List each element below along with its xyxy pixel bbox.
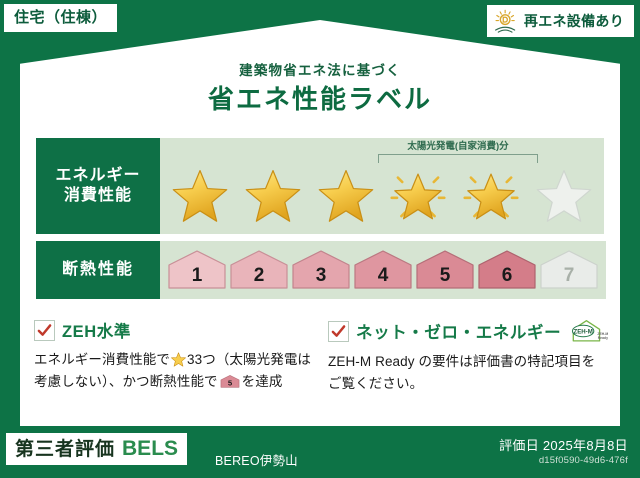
- svg-text:4: 4: [378, 265, 389, 286]
- label-title: 省エネ性能ラベル: [0, 79, 640, 116]
- svg-text:1: 1: [192, 265, 203, 286]
- energy-star-2: [242, 160, 304, 230]
- bels-logo-text: BELS: [122, 438, 178, 459]
- star-filled-icon: [172, 168, 228, 224]
- insulation-performance-row: 断熱性能 1 2 3 4: [36, 241, 604, 299]
- building-type-tag: 住宅（住棟）: [4, 4, 117, 32]
- svg-text:2: 2: [254, 265, 265, 286]
- zeh-m-logo-icon: ZEH-M ZEH-M Ready: [570, 318, 608, 344]
- insulation-grade-2: 2: [228, 249, 290, 291]
- svg-text:7: 7: [564, 265, 575, 286]
- metric-rows: エネルギー 消費性能 太陽光発電(自家消費)分: [36, 138, 604, 306]
- energy-star-5: [460, 160, 522, 230]
- insulation-grade-5: 5: [414, 249, 476, 291]
- insulation-grades-area: 1 2 3 4 5: [160, 241, 606, 299]
- star-filled-icon: [318, 168, 374, 224]
- svg-text:Ready: Ready: [598, 336, 608, 340]
- insulation-grade-7: 7: [538, 249, 600, 291]
- star-empty-icon: [536, 168, 592, 224]
- zeh-desc-part3: を達成: [242, 374, 283, 389]
- zeh-standard-block: ZEH水準 エネルギー消費性能で33つ（太陽光発電は考慮しない）、かつ断熱性能で…: [34, 318, 314, 395]
- net-zero-energy-block: ネット・ゼロ・エネルギー ZEH-M ZEH-M Ready ZEH-M Rea…: [328, 318, 608, 395]
- third-party-eval-label: 第三者評価: [15, 440, 115, 459]
- insulation-grade-1: 1: [166, 249, 228, 291]
- zeh-title: ZEH水準: [62, 318, 131, 342]
- energy-star-3: [315, 160, 377, 230]
- label-subtitle: 建築物省エネ法に基づく: [0, 59, 640, 79]
- solar-annotation-label: 太陽光発電(自家消費)分: [378, 142, 538, 152]
- energy-stars-area: 太陽光発電(自家消費)分: [160, 138, 604, 234]
- evaluation-date: 評価日 2025年8月8日: [499, 435, 628, 454]
- info-columns: ZEH水準 エネルギー消費性能で33つ（太陽光発電は考慮しない）、かつ断熱性能で…: [34, 318, 608, 395]
- renewable-energy-badge: 再エネ設備あり: [487, 5, 634, 37]
- insulation-grade-6: 6: [476, 249, 538, 291]
- svg-text:ZEH-M: ZEH-M: [574, 328, 593, 335]
- energy-star-4: [387, 160, 449, 230]
- solar-sun-icon: [493, 9, 519, 33]
- energy-performance-label: 住宅（住棟） 再エネ設備あり 建築物省エネ法に基づく 省エネ性能ラベル: [0, 0, 640, 478]
- star-filled-icon: [245, 168, 301, 224]
- bels-plate: 第三者評価 BELS: [6, 433, 187, 465]
- zeh-desc-part1: エネルギー消費性能で: [34, 352, 170, 367]
- energy-label-line1: エネルギー: [55, 166, 140, 186]
- nze-title: ネット・ゼロ・エネルギー: [356, 319, 561, 343]
- zeh-checkbox: [34, 320, 55, 341]
- energy-performance-row: エネルギー 消費性能 太陽光発電(自家消費)分: [36, 138, 604, 234]
- footer-bar: 第三者評価 BELS BEREO伊勢山 評価日 2025年8月8日 d15f05…: [0, 426, 640, 478]
- svg-text:5: 5: [227, 378, 232, 387]
- inline-star-icon: [171, 352, 186, 367]
- nze-description: ZEH-M Ready の要件は評価書の特記項目をご覧ください。: [328, 351, 608, 395]
- check-icon: [37, 323, 52, 338]
- building-name: BEREO伊勢山: [215, 450, 298, 469]
- zeh-heading: ZEH水準: [34, 318, 314, 342]
- energy-star-1: [169, 160, 231, 230]
- insulation-grade-3: 3: [290, 249, 352, 291]
- renewable-badge-label: 再エネ設備あり: [524, 14, 624, 28]
- energy-star-6: [533, 160, 595, 230]
- svg-text:3: 3: [316, 265, 327, 286]
- insulation-grade-4: 4: [352, 249, 414, 291]
- check-icon: [331, 324, 346, 339]
- svg-text:5: 5: [440, 265, 451, 286]
- star-filled-sparkle-icon: [463, 168, 519, 224]
- energy-label-line2: 消費性能: [64, 186, 132, 206]
- nze-checkbox: [328, 321, 349, 342]
- svg-text:6: 6: [502, 265, 513, 286]
- star-filled-sparkle-icon: [390, 168, 446, 224]
- inline-house-grade-icon: 5: [220, 374, 240, 389]
- evaluation-id: d15f0590-49d6-476f: [539, 455, 628, 466]
- nze-heading: ネット・ゼロ・エネルギー ZEH-M ZEH-M Ready: [328, 318, 608, 344]
- energy-row-label: エネルギー 消費性能: [36, 138, 160, 234]
- zeh-star-count: 3: [187, 352, 195, 367]
- insulation-row-label: 断熱性能: [36, 241, 160, 299]
- zeh-description: エネルギー消費性能で33つ（太陽光発電は考慮しない）、かつ断熱性能で5を達成: [34, 349, 314, 393]
